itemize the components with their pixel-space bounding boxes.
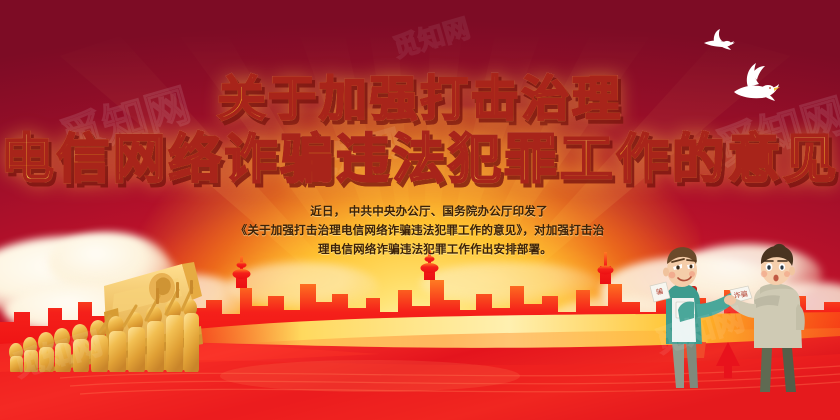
- title-line-2: 电信网络诈骗违法犯罪工作的意见: [0, 128, 840, 190]
- scammer-character-icon: 证 诈骗: [650, 247, 752, 388]
- poster-body-text: 近日， 中共中央办公厅、国务院办公厅印发了 《关于加强打击治理电信网络诈骗违法犯…: [185, 203, 655, 260]
- dove-icon: [700, 28, 736, 54]
- victim-character-icon: [724, 244, 805, 392]
- monument-sculpture-icon: [0, 252, 226, 372]
- body-line-3: 理电信网络诈骗违法犯罪工作作出安排部署。: [185, 241, 655, 260]
- body-line-2: 《关于加强打击治理电信网络诈骗违法犯罪工作的意见》，对加强打击治: [185, 222, 655, 241]
- characters-group: 证 诈骗: [646, 242, 836, 392]
- poster-canvas: 证 诈骗: [0, 0, 840, 420]
- poster-title: 关于加强打击治理 电信网络诈骗违法犯罪工作的意见: [0, 72, 840, 190]
- title-line-1: 关于加强打击治理: [0, 72, 840, 126]
- document-card: 骗: [650, 282, 670, 302]
- body-line-1: 近日， 中共中央办公厅、国务院办公厅印发了: [185, 203, 655, 222]
